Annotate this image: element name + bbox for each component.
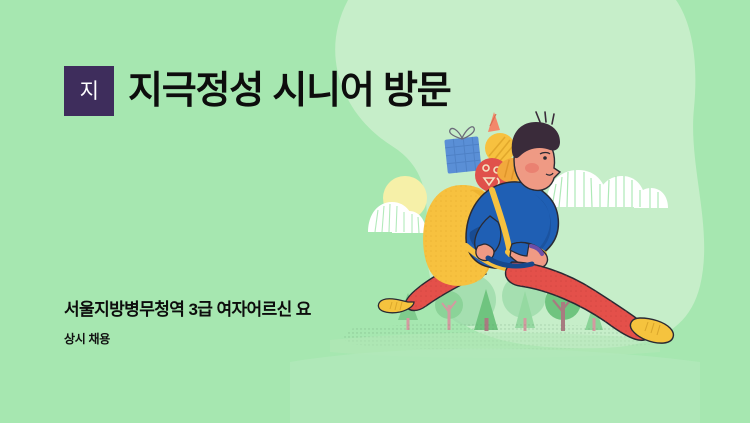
gift-items bbox=[444, 112, 531, 192]
gift-ball-yellow bbox=[485, 133, 515, 163]
job-subtitle: 서울지방병무청역 3급 여자어르신 요 bbox=[64, 300, 311, 320]
header: 지 지극정성 시니어 방문 bbox=[64, 66, 451, 116]
gift-cone bbox=[488, 112, 500, 132]
tree bbox=[398, 293, 418, 330]
tree-row bbox=[398, 274, 603, 331]
footer: 서울지방병무청역 3급 여자어르신 요 상시 채용 bbox=[64, 300, 311, 347]
tree bbox=[474, 289, 498, 331]
tree bbox=[545, 284, 581, 331]
brand-badge: 지 bbox=[64, 66, 114, 116]
tree bbox=[435, 291, 463, 330]
tree bbox=[585, 302, 603, 331]
foreground-band bbox=[290, 349, 700, 423]
runner-torso bbox=[466, 182, 558, 268]
sun bbox=[383, 176, 427, 220]
hiring-status: 상시 채용 bbox=[64, 332, 311, 346]
light-green-blob bbox=[335, 0, 704, 348]
runner-front-leg bbox=[506, 262, 674, 343]
brand-badge-letter: 지 bbox=[80, 81, 99, 102]
runner-front-arm bbox=[510, 242, 547, 268]
waistband bbox=[488, 258, 532, 266]
gift-ball-orange bbox=[494, 154, 531, 185]
gift-ball-red bbox=[475, 158, 509, 192]
ground-band bbox=[330, 324, 663, 359]
background-fill bbox=[0, 0, 750, 423]
runner-back-arm bbox=[475, 216, 501, 261]
illustration bbox=[0, 0, 750, 423]
runner-head bbox=[512, 112, 560, 190]
gift-sack bbox=[423, 185, 497, 286]
sack-strap-lower bbox=[508, 248, 544, 254]
sack-strap bbox=[466, 190, 510, 268]
gift-box-blue bbox=[444, 127, 481, 174]
runner-back-leg bbox=[378, 252, 486, 313]
job-posting-card: 지 지극정성 시니어 방문 서울지방병무청역 3급 여자어르신 요 상시 채용 bbox=[0, 0, 750, 423]
tree bbox=[515, 291, 535, 331]
runner bbox=[378, 112, 673, 343]
white-bushes-left bbox=[368, 202, 426, 233]
white-bushes-right bbox=[546, 170, 668, 208]
page-title: 지극정성 시니어 방문 bbox=[128, 72, 451, 110]
